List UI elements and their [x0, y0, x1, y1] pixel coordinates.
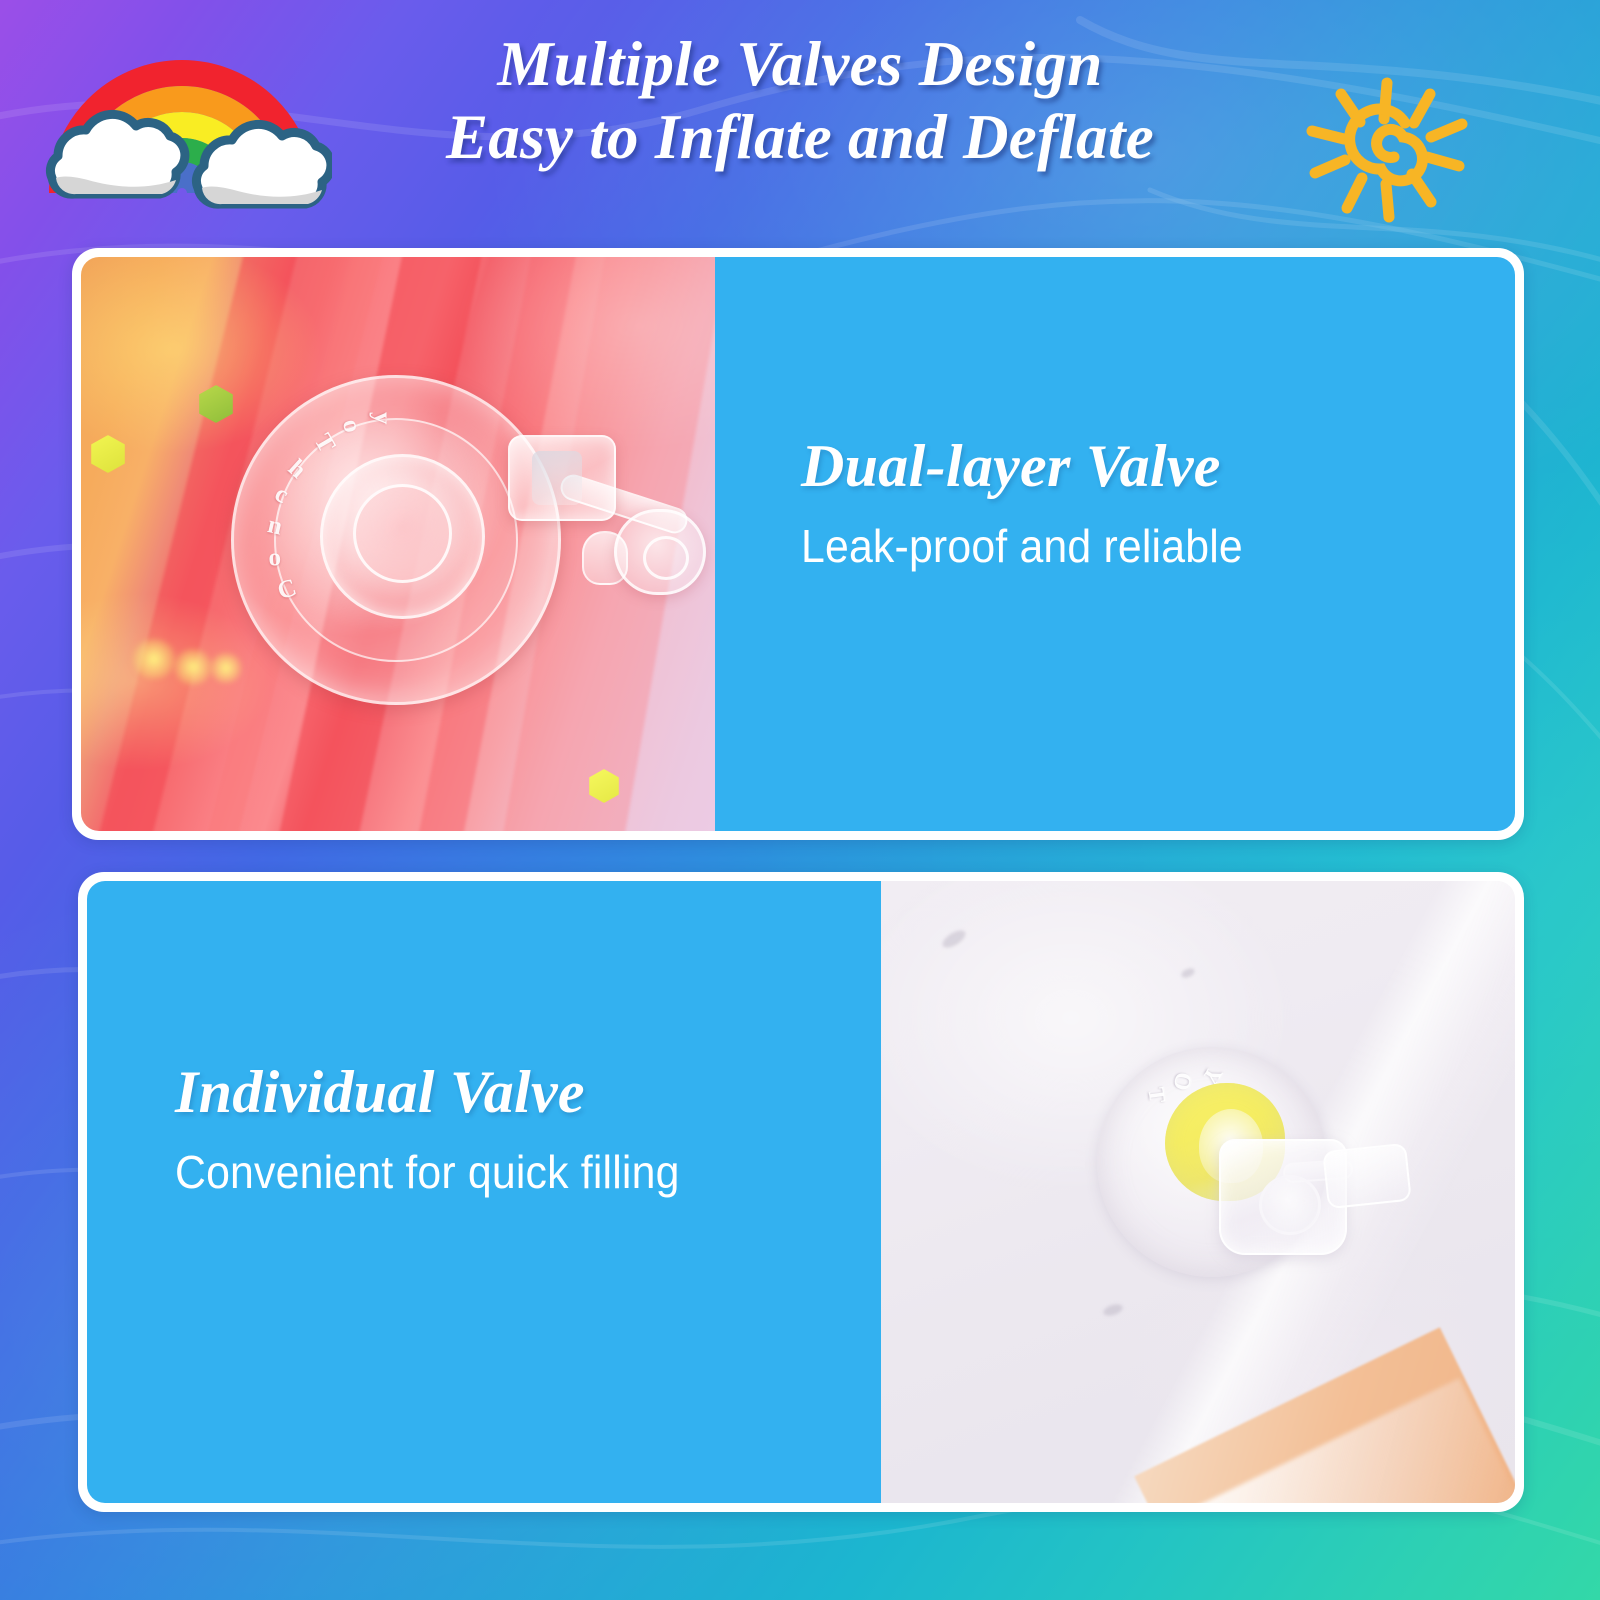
sun-icon — [1285, 45, 1485, 235]
card-1-subtitle: Leak-proof and reliable — [801, 520, 1243, 573]
feature-card-dual-layer-valve: C o n c h T o y — [72, 248, 1524, 840]
rainbow-icon — [32, 18, 332, 218]
card-2-title: Individual Valve — [175, 1061, 718, 1124]
dual-layer-valve-photo: C o n c h T o y — [81, 257, 715, 831]
dual-layer-valve-text-panel: Dual-layer Valve Leak-proof and reliable — [715, 257, 1515, 831]
feature-card-individual-valve: Individual Valve Convenient for quick fi… — [78, 872, 1524, 1512]
card-2-subtitle: Convenient for quick filling — [175, 1146, 680, 1199]
valve-closeup: T O Y — [1097, 1047, 1327, 1277]
card-1-title: Dual-layer Valve — [801, 435, 1276, 498]
headline: Multiple Valves Design Easy to Inflate a… — [330, 28, 1270, 174]
valve-plug — [496, 425, 696, 615]
individual-valve-photo: T O Y — [881, 881, 1515, 1503]
headline-line-1: Multiple Valves Design — [497, 29, 1102, 99]
headline-line-2: Easy to Inflate and Deflate — [330, 101, 1270, 174]
individual-valve-text-panel: Individual Valve Convenient for quick fi… — [87, 881, 881, 1503]
header: Multiple Valves Design Easy to Inflate a… — [0, 0, 1600, 235]
